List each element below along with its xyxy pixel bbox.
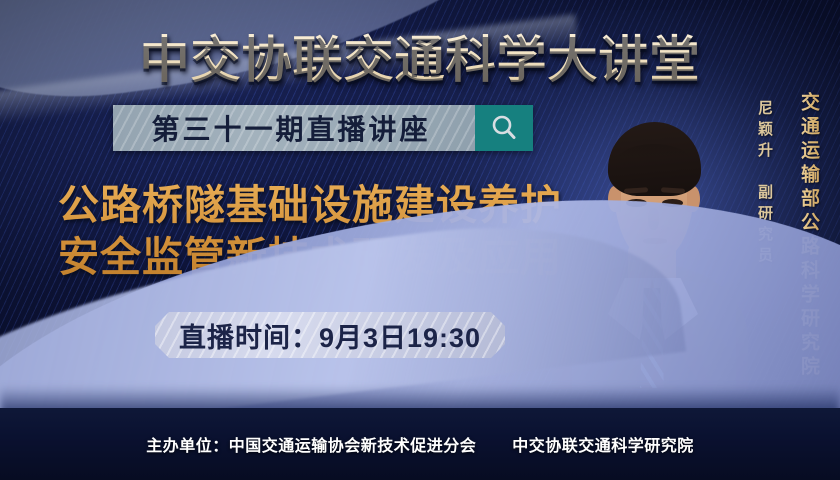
schedule-label: 直播时间：9月3日19:30 xyxy=(179,316,481,355)
episode-label: 第三十一期直播讲座 xyxy=(151,108,436,148)
search-icon-tile[interactable] xyxy=(475,105,533,151)
footer-organizer-primary: 主办单位：中国交通运输协会新技术促进分会 xyxy=(146,438,476,455)
footer-organizers: 主办单位：中国交通运输协会新技术促进分会 中交协联交通科学研究院 xyxy=(0,432,840,456)
episode-banner-body: 第三十一期直播讲座 xyxy=(113,105,475,151)
live-stream-poster: 中交协联交通科学大讲堂 第三十一期直播讲座 公路桥隧基础设施建设养护 安全监管新… xyxy=(0,0,840,480)
episode-banner: 第三十一期直播讲座 xyxy=(113,105,533,151)
footer-organizer-secondary: 中交协联交通科学研究院 xyxy=(512,438,694,455)
search-icon xyxy=(489,113,519,143)
schedule-pill: 直播时间：9月3日19:30 xyxy=(155,312,505,358)
